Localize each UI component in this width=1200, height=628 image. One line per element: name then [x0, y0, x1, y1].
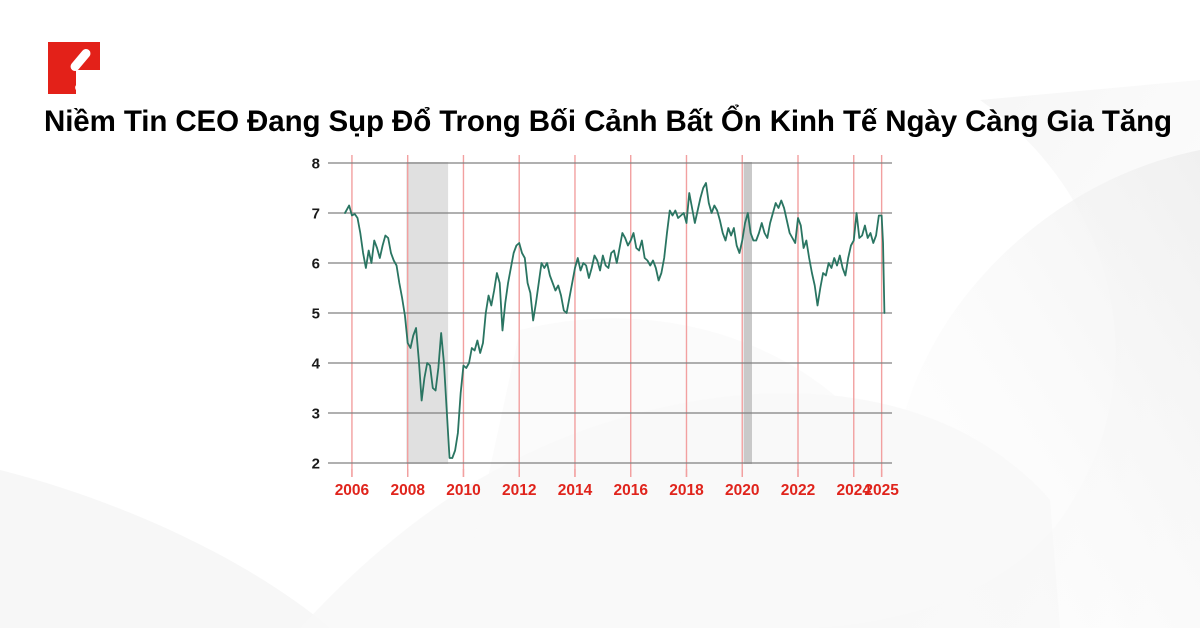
- y-tick-label: 8: [312, 156, 320, 173]
- x-tick-label: 2016: [613, 482, 648, 499]
- y-tick-label: 5: [312, 306, 320, 323]
- x-tick-label: 2020: [725, 482, 759, 499]
- x-tick-label: 2014: [558, 482, 593, 499]
- x-axis-tick-marks: [352, 469, 882, 477]
- x-tick-label: 2018: [669, 482, 704, 499]
- x-axis-tick-labels: 2006200820102012201420162018202020222024…: [335, 482, 900, 499]
- y-axis-tick-labels: 2345678: [312, 156, 321, 473]
- x-tick-label: 2012: [502, 482, 536, 499]
- x-tick-label: 2006: [335, 482, 370, 499]
- y-tick-label: 7: [312, 206, 320, 223]
- x-tick-label: 2025: [864, 482, 899, 499]
- x-tick-label: 2022: [781, 482, 815, 499]
- y-tick-label: 3: [312, 406, 320, 423]
- ceo-confidence-line-chart: 2345678 20062008201020122014201620182020…: [0, 0, 1200, 628]
- brand-logo-icon: [46, 40, 102, 96]
- y-tick-label: 2: [312, 456, 320, 473]
- y-tick-label: 4: [312, 356, 321, 373]
- y-tick-label: 6: [312, 256, 320, 273]
- x-tick-label: 2008: [390, 482, 425, 499]
- page-title: Niềm Tin CEO Đang Sụp Đổ Trong Bối Cảnh …: [44, 104, 1174, 141]
- x-tick-label: 2010: [446, 482, 480, 499]
